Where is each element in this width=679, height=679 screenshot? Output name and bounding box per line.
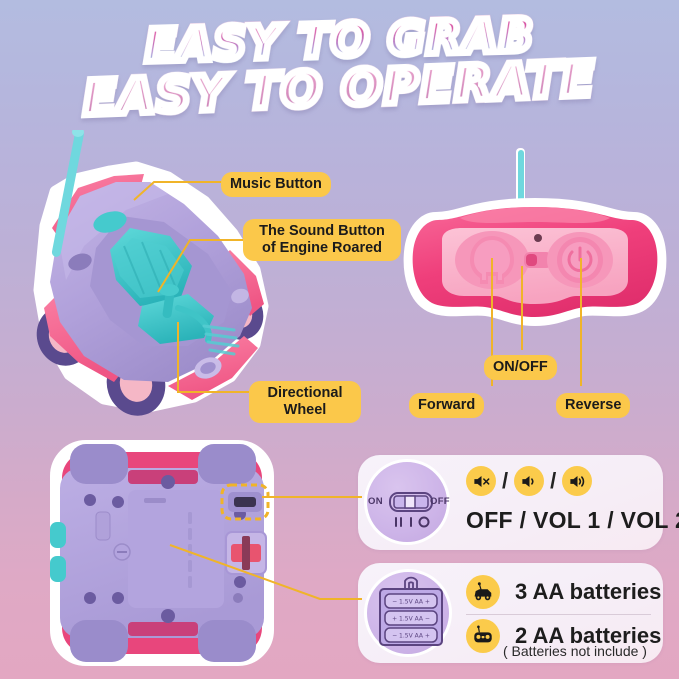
- svg-text:− 1.5V AA +: − 1.5V AA +: [392, 599, 430, 606]
- svg-text:− 1.5V AA +: − 1.5V AA +: [392, 633, 430, 640]
- remote-control-icon: [466, 619, 500, 653]
- battery-panel: − 1.5V AA + + 1.5V AA − − 1.5V AA +: [358, 563, 663, 663]
- callout-forward: Forward: [409, 393, 484, 418]
- side-button-lower: [50, 556, 66, 582]
- volume-separator-2: /: [550, 468, 556, 494]
- wheel-front-right: [198, 444, 256, 484]
- callout-music-button: Music Button: [221, 172, 331, 197]
- battery-diagram-circle: − 1.5V AA + + 1.5V AA − − 1.5V AA +: [364, 569, 452, 657]
- callout-engine-sound: The Sound Button of Engine Roared: [243, 219, 401, 261]
- battery-row-car: 3 AA batteries: [466, 575, 661, 609]
- volume-separator-1: /: [502, 468, 508, 494]
- title-line-1: EASY TO GRAB: [144, 13, 535, 69]
- volume-panel: ON OFF / /: [358, 455, 663, 550]
- wheel-front-left: [70, 444, 128, 484]
- remote-control-photo: [400, 148, 670, 348]
- side-button-upper: [50, 522, 66, 548]
- infographic-root: EASY TO GRAB EASY TO OPERATE: [0, 0, 679, 679]
- power-switch: [234, 497, 256, 507]
- volume-modes-label: OFF / VOL 1 / VOL 2: [466, 507, 679, 534]
- battery-note: ( Batteries not include ): [503, 643, 647, 659]
- remote-control-illustration: [400, 148, 670, 348]
- battery-cover-plate: [128, 490, 224, 608]
- wheel-rear-left: [70, 620, 128, 662]
- battery-compartment-diagram: − 1.5V AA + + 1.5V AA − − 1.5V AA +: [370, 575, 452, 657]
- battery-count-car: 3 AA batteries: [515, 579, 661, 605]
- switch-on-label: ON: [368, 496, 383, 507]
- callout-reverse: Reverse: [556, 393, 630, 418]
- speaker-low-icon: [514, 466, 544, 496]
- svg-text:+ 1.5V AA −: + 1.5V AA −: [392, 616, 430, 623]
- battery-panel-divider: [466, 614, 651, 615]
- toy-car-icon: [466, 575, 500, 609]
- speaker-high-icon: [562, 466, 592, 496]
- callout-directional-wheel: Directional Wheel: [249, 381, 361, 423]
- switch-diagram-circle: ON OFF: [364, 459, 450, 545]
- wheel-rear-right: [198, 620, 256, 662]
- page-title: EASY TO GRAB EASY TO OPERATE: [0, 18, 679, 113]
- speaker-mute-icon: [466, 466, 496, 496]
- car-underside-photo: [22, 440, 322, 670]
- car-underside-illustration: [22, 440, 322, 670]
- switch-off-label: OFF: [430, 496, 450, 507]
- title-line-2: EASY TO OPERATE: [82, 55, 596, 123]
- volume-icon-row: / /: [466, 466, 592, 496]
- callout-onoff: ON/OFF: [484, 355, 557, 380]
